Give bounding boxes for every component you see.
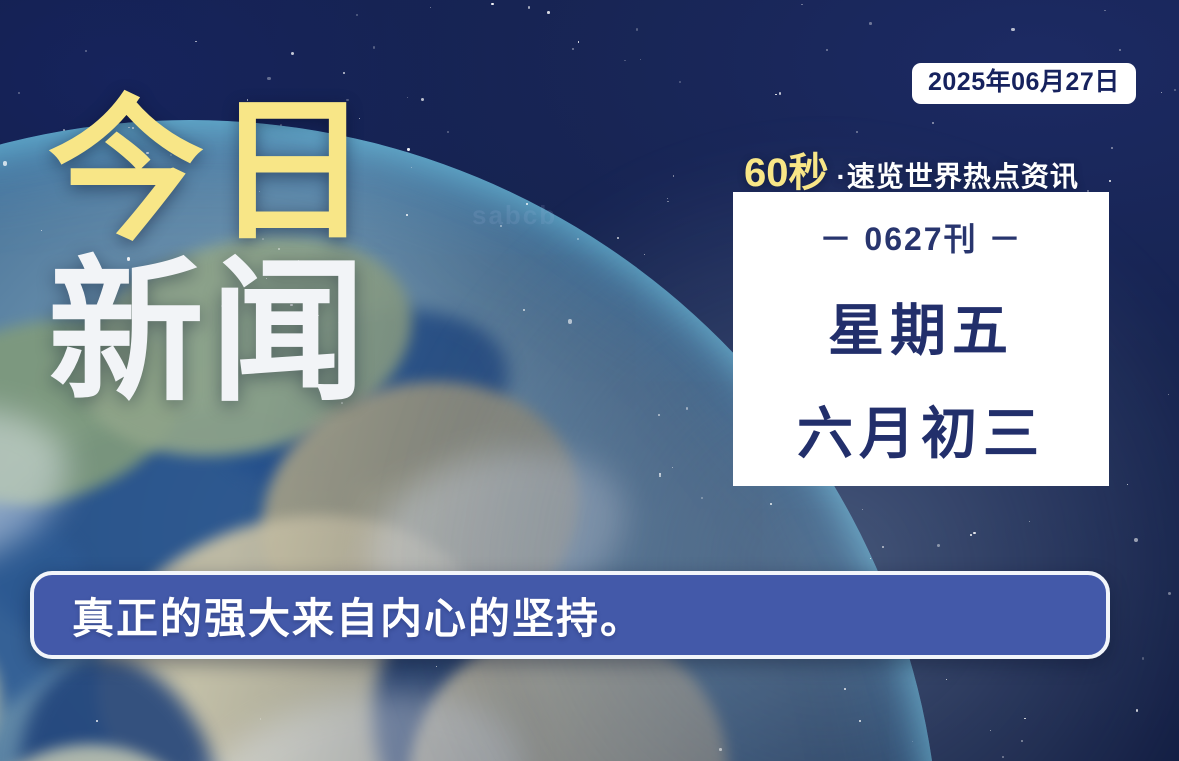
poster-canvas: sabcb 2025年06月27日 今日 新闻 60秒 ·速览世界热点资讯 － …: [0, 0, 1179, 761]
issue-card: － 0627刊 － 星期五 六月初三: [733, 192, 1109, 486]
lunar-date-label: 六月初三: [797, 389, 1045, 470]
issue-number: － 0627刊 －: [820, 214, 1023, 260]
watermark-text: sabcb: [472, 200, 557, 231]
tagline-description: ·速览世界热点资讯: [837, 155, 1079, 195]
page-title-line-1: 今日: [48, 96, 380, 249]
quote-bar: 真正的强大来自内心的坚持。: [30, 571, 1110, 659]
quote-text: 真正的强大来自内心的坚持。: [72, 585, 644, 646]
date-badge: 2025年06月27日: [912, 63, 1136, 104]
tagline: 60秒 ·速览世界热点资讯: [744, 140, 1079, 198]
weekday-label: 星期五: [828, 286, 1014, 367]
tagline-seconds: 60秒: [744, 140, 829, 198]
page-title: 今日 新闻: [48, 96, 380, 410]
page-title-line-2: 新闻: [48, 257, 380, 410]
